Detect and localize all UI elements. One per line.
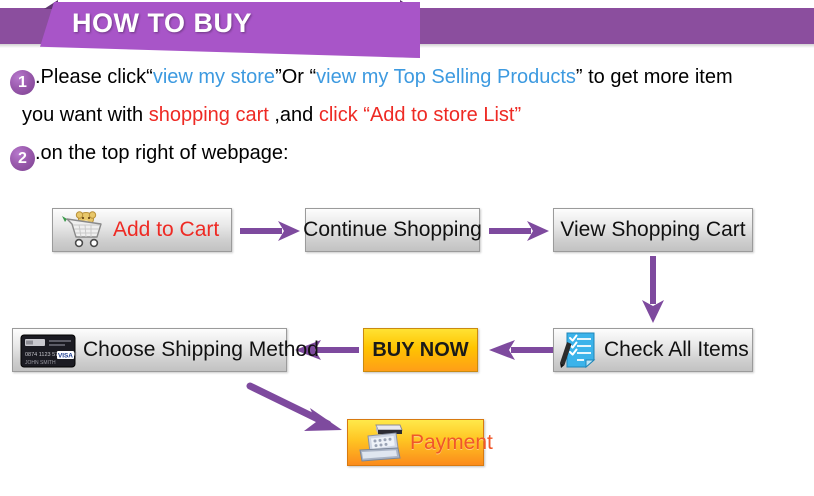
cash-register-icon xyxy=(352,422,406,464)
purchase-flow-diagram: Add to Cart Continue Shopping View Shopp… xyxy=(0,0,814,496)
flow-box-buy-now[interactable]: BUY NOW xyxy=(363,328,478,372)
arrow-right-1 xyxy=(240,220,302,247)
credit-card-icon: 0874 1123 5766 8891 VISA JOHN SMITH xyxy=(19,331,77,369)
flow-box-label: BUY NOW xyxy=(372,339,468,362)
flow-box-label: Continue Shopping xyxy=(303,218,482,242)
flow-box-continue-shopping[interactable]: Continue Shopping xyxy=(305,208,480,252)
arrow-diagonal-1 xyxy=(246,382,358,441)
arrow-right-2 xyxy=(489,220,551,247)
card-brand-label: VISA xyxy=(58,353,73,360)
flow-box-label: Choose Shipping Method xyxy=(83,338,319,362)
flow-box-payment[interactable]: Payment xyxy=(347,419,484,466)
flow-box-choose-shipping-method[interactable]: 0874 1123 5766 8891 VISA JOHN SMITH Choo… xyxy=(12,328,287,372)
arrow-left-1 xyxy=(487,339,553,366)
svg-text:JOHN SMITH: JOHN SMITH xyxy=(25,360,56,366)
checklist-icon xyxy=(558,330,600,370)
flow-box-add-to-cart[interactable]: Add to Cart xyxy=(52,208,232,252)
arrow-down-1 xyxy=(638,256,668,329)
flow-box-view-shopping-cart[interactable]: View Shopping Cart xyxy=(553,208,753,252)
shopping-cart-icon xyxy=(59,211,105,249)
flow-box-label: View Shopping Cart xyxy=(560,218,745,242)
flow-box-label: Check All Items xyxy=(604,338,749,362)
flow-box-label: Add to Cart xyxy=(113,218,219,242)
flow-box-label: Payment xyxy=(410,431,493,455)
flow-box-check-all-items[interactable]: Check All Items xyxy=(553,328,753,372)
